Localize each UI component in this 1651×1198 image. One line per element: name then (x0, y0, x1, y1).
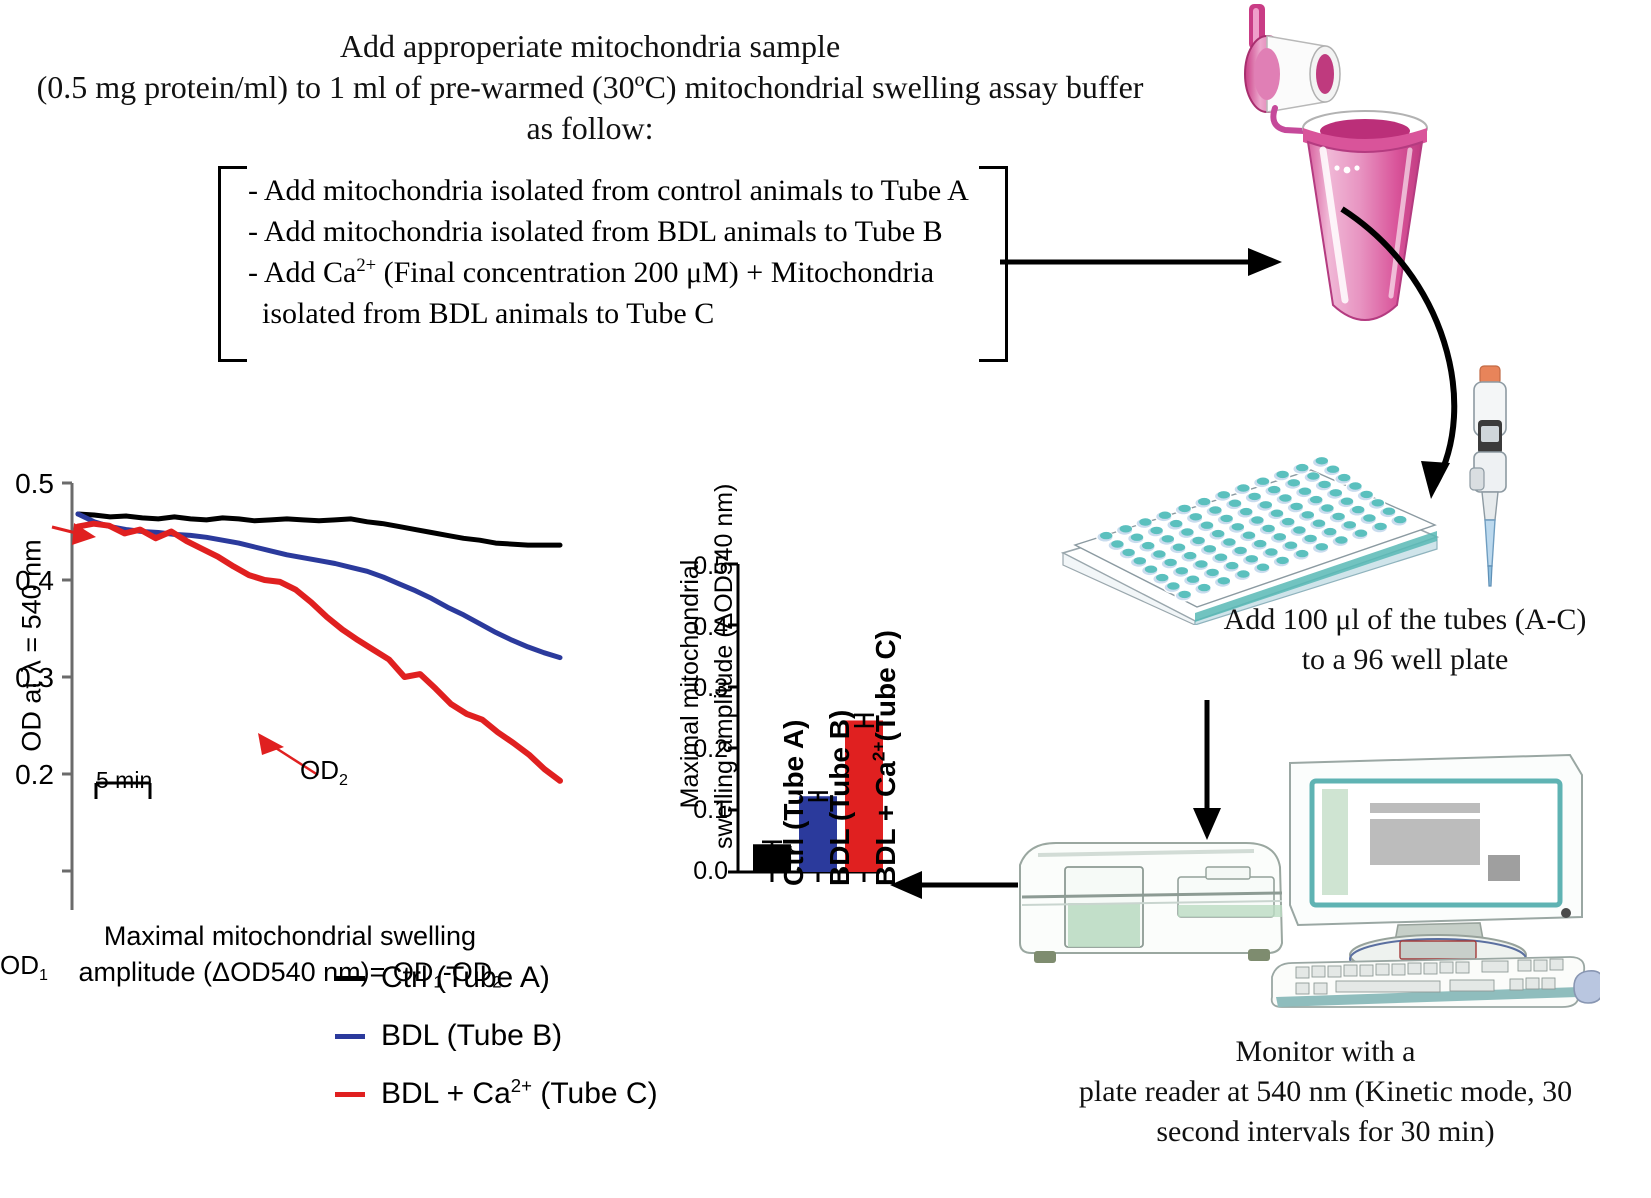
plate-well-liquid (1190, 513, 1202, 520)
plate-well-liquid (1181, 528, 1193, 535)
plate-caption: Add 100 μl of the tubes (A-C) to a 96 we… (1185, 600, 1625, 680)
plate-well-liquid (1327, 466, 1339, 473)
plate-well-liquid (1310, 496, 1322, 503)
bracket-item-3-post: (Final concentration 200 μM) + Mitochond… (376, 256, 934, 289)
plate-well-liquid (1394, 516, 1406, 523)
plate-well-liquid (1335, 536, 1347, 543)
plate-well-liquid (1159, 512, 1171, 519)
plate-well-liquid (1150, 527, 1162, 534)
plate-well-liquid (1299, 488, 1311, 495)
plate-well-liquid (1184, 552, 1196, 559)
bracket-left-glyph (218, 166, 247, 362)
plate-well-liquid (1355, 530, 1367, 537)
desktop-computer-illustration (1270, 745, 1600, 1015)
96-well-plate-illustration (1045, 425, 1445, 625)
legend-label-bdl-ca-sup: 2+ (511, 1075, 532, 1096)
plate-well-liquid (1316, 543, 1328, 550)
top-instruction-text: Add approperiate mitochondria sample (0.… (0, 26, 1180, 149)
plate-well-liquid (1254, 540, 1266, 547)
plate-well-liquid (1215, 554, 1227, 561)
bracketed-instruction-block: - Add mitochondria isolated from control… (218, 166, 1008, 356)
plate-well-liquid (1164, 559, 1176, 566)
reader-caption-line-1: Monitor with a (1000, 1032, 1651, 1072)
arrow-plate-to-reader (1185, 700, 1235, 840)
od2-subscript: 2 (339, 771, 348, 789)
bracket-list: - Add mitochondria isolated from control… (248, 170, 988, 334)
bar-chart-bars (753, 715, 883, 872)
plate-well-liquid (1243, 532, 1255, 539)
computer-monitor (1290, 755, 1582, 925)
plate-well-liquid (1268, 486, 1280, 493)
bar-chart-xlabel-0: Ctrl (Tube A) (778, 720, 810, 886)
plate-well-liquid (1198, 584, 1210, 591)
reader-caption-line-2: plate reader at 540 nm (Kinetic mode, 30 (1000, 1072, 1651, 1112)
bar-chart-xlabel-2-pre: BDL + Ca (870, 761, 901, 886)
plate-well-liquid (1352, 506, 1364, 513)
plate-well-liquid (1288, 479, 1300, 486)
bar-chart-xlabel-2-post: (Tube C) (870, 630, 901, 741)
plate-well-liquid (1178, 591, 1190, 598)
od1-label: OD1 (0, 950, 48, 981)
od1-subscript: 1 (39, 966, 48, 984)
plate-well-liquid (1251, 516, 1263, 523)
plate-well-liquid (1274, 533, 1286, 540)
line-chart: OD at λ = 540 nm 0.5 0.4 0.3 0.2 (0, 455, 620, 915)
legend-item-bdl-ca[interactable]: BDL + Ca2+ (Tube C) (335, 1071, 658, 1117)
plate-caption-line-2: to a 96 well plate (1185, 640, 1625, 680)
plate-well-liquid (1260, 501, 1272, 508)
legend-label-bdl: BDL (Tube B) (381, 1019, 562, 1053)
plate-well-liquid (1257, 564, 1269, 571)
plate-well-liquid (1240, 508, 1252, 515)
plate-well-liquid (1307, 472, 1319, 479)
bracket-list-item-3: - Add Ca2+ (Final concentration 200 μM) … (248, 252, 988, 293)
bracket-list-item-3-continued: isolated from BDL animals to Tube C (248, 293, 988, 334)
plate-well-liquid (1204, 545, 1216, 552)
plate-well-liquid (1338, 474, 1350, 481)
plate-well-liquid (1374, 523, 1386, 530)
plate-well-liquid (1372, 499, 1384, 506)
plate-well-liquid (1276, 557, 1288, 564)
plate-well-liquid (1321, 504, 1333, 511)
plate-well-liquid (1153, 550, 1165, 557)
plate-well-liquid (1290, 503, 1302, 510)
scalebar-label: 5 min (96, 767, 152, 794)
line-caption-line-1: Maximal mitochondrial swelling (55, 918, 525, 954)
plate-well-liquid (1192, 537, 1204, 544)
plate-well-liquid (1206, 569, 1218, 576)
plate-well-liquid (1111, 540, 1123, 547)
legend-label-bdl-ca: BDL + Ca2+ (Tube C) (381, 1077, 658, 1111)
plate-well-liquid (1212, 530, 1224, 537)
bar-chart-xlabel-2: BDL + Ca2+(Tube C) (870, 630, 902, 886)
plate-well-liquid (1318, 481, 1330, 488)
micropipette-illustration (1440, 360, 1550, 590)
legend-swatch-bdl-ca (335, 1092, 365, 1097)
plate-well-liquid (1142, 542, 1154, 549)
plate-well-liquid (1282, 518, 1294, 525)
bar-chart: Maximal mitochondrial swelling amplitude… (630, 500, 960, 1060)
plate-well-liquid (1304, 535, 1316, 542)
plate-well-liquid (1198, 498, 1210, 505)
plate-well-liquid (1285, 542, 1297, 549)
plate-well-liquid (1134, 557, 1146, 564)
plate-well-liquid (1246, 555, 1258, 562)
computer-keyboard (1272, 957, 1585, 1007)
plate-well-liquid (1167, 582, 1179, 589)
top-instruction-line-3: as follow: (0, 108, 1180, 149)
plate-well-liquid (1265, 548, 1277, 555)
plate-well-liquid (1120, 525, 1132, 532)
plate-well-liquid (1162, 535, 1174, 542)
line-caption-line-2: amplitude (ΔOD540 nm)= OD1-OD2 (55, 954, 525, 990)
plate-reader-illustration (1010, 825, 1290, 965)
plate-well-liquid (1313, 520, 1325, 527)
plate-well-liquid (1218, 577, 1230, 584)
line-caption-sub-2: 2 (492, 972, 501, 991)
plate-well-liquid (1341, 498, 1353, 505)
plate-well-liquid (1349, 482, 1361, 489)
plate-well-liquid (1324, 528, 1336, 535)
bracket-list-item-2: - Add mitochondria isolated from BDL ani… (248, 211, 988, 252)
plate-well-liquid (1344, 521, 1356, 528)
plate-well-liquid (1178, 505, 1190, 512)
line-caption-sub-1: 1 (433, 972, 442, 991)
plate-well-liquid (1226, 562, 1238, 569)
plate-well-liquid (1316, 457, 1328, 464)
plate-well-liquid (1383, 508, 1395, 515)
bracket-item-3-superscript: 2+ (356, 255, 376, 276)
plate-well-liquid (1237, 484, 1249, 491)
plate-well-liquid (1363, 514, 1375, 521)
plate-well-liquid (1296, 550, 1308, 557)
plate-well-liquid (1209, 506, 1221, 513)
bracket-item-3-pre: - Add Ca (248, 256, 356, 289)
plate-well-liquid (1332, 513, 1344, 520)
line-chart-caption: Maximal mitochondrial swelling amplitude… (55, 918, 525, 990)
line-caption-pre: amplitude (ΔOD540 nm)= OD (78, 957, 433, 987)
plate-well-liquid (1237, 570, 1249, 577)
computer-mouse (1574, 971, 1600, 1003)
plate-well-liquid (1229, 500, 1241, 507)
plate-well-liquid (1195, 560, 1207, 567)
legend-item-bdl[interactable]: BDL (Tube B) (335, 1013, 658, 1059)
plate-well-liquid (1145, 566, 1157, 573)
top-instruction-line-2: (0.5 mg protein/ml) to 1 ml of pre-warme… (0, 67, 1180, 108)
plate-well-liquid (1360, 491, 1372, 498)
plate-well-liquid (1302, 511, 1314, 518)
plate-well-liquid (1220, 515, 1232, 522)
line-chart-plot-area (0, 455, 620, 915)
reader-caption: Monitor with a plate reader at 540 nm (K… (1000, 1032, 1651, 1152)
line-caption-mid: -OD (443, 957, 493, 987)
plate-well-liquid (1279, 494, 1291, 501)
plate-well-liquid (1156, 574, 1168, 581)
plate-well-liquid (1218, 491, 1230, 498)
plate-caption-line-1: Add 100 μl of the tubes (A-C) (1185, 600, 1625, 640)
plate-well-liquid (1223, 538, 1235, 545)
legend-label-bdl-ca-post: (Tube C) (532, 1077, 658, 1110)
bar-chart-xlabel-1: BDL (Tube B) (824, 710, 856, 886)
plate-well-liquid (1201, 522, 1213, 529)
plate-well-liquid (1131, 534, 1143, 541)
plate-well-liquid (1248, 493, 1260, 500)
bracket-list-item-1: - Add mitochondria isolated from control… (248, 170, 988, 211)
plate-well-liquid (1187, 576, 1199, 583)
tube-lid-cap (1245, 36, 1340, 112)
od2-label: OD2 (300, 755, 348, 786)
plate-well-liquid (1296, 464, 1308, 471)
plate-well-liquid (1234, 547, 1246, 554)
legend-label-bdl-ca-pre: BDL + Ca (381, 1077, 511, 1110)
plate-well-liquid (1330, 489, 1342, 496)
plate-well-liquid (1122, 549, 1134, 556)
legend-swatch-bdl (335, 1034, 365, 1039)
plate-well-liquid (1232, 523, 1244, 530)
top-instruction-line-1: Add approperiate mitochondria sample (0, 26, 1180, 67)
plate-well-liquid (1176, 567, 1188, 574)
plate-well-liquid (1170, 520, 1182, 527)
bar-chart-xlabel-2-sup: 2+ (869, 741, 889, 761)
plate-well-liquid (1276, 471, 1288, 478)
reader-caption-line-3: second intervals for 30 min) (1000, 1112, 1651, 1152)
plate-well-liquid (1139, 518, 1151, 525)
plate-well-liquid (1100, 532, 1112, 539)
plate-well-liquid (1257, 478, 1269, 485)
plate-well-liquid (1271, 510, 1283, 517)
plate-well-liquid (1293, 526, 1305, 533)
plate-well-liquid (1262, 525, 1274, 532)
plate-well-liquid (1173, 544, 1185, 551)
